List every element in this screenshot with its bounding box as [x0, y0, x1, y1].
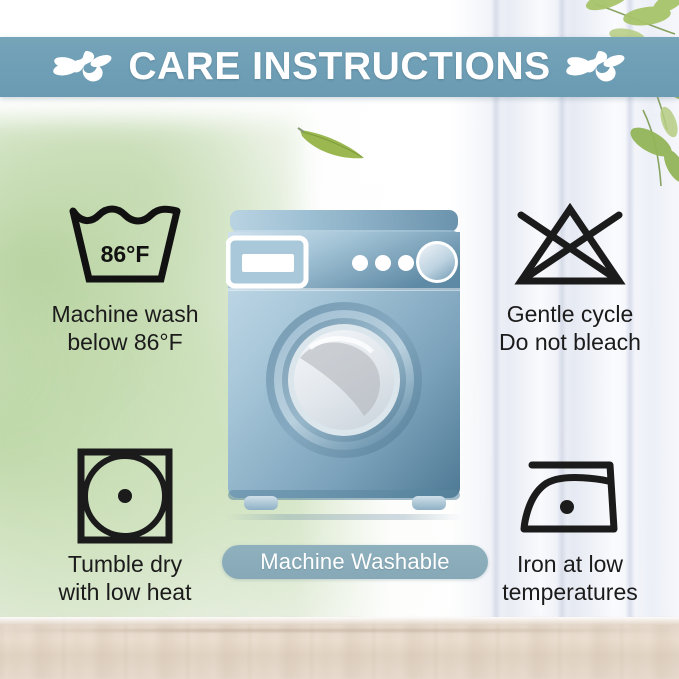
badge-label: Machine Washable: [260, 549, 449, 575]
wash-temperature-value: 86°F: [65, 241, 185, 268]
care-symbol-machine-wash: 86°F Machine wash below 86°F: [18, 196, 232, 356]
care-symbol-label: Machine wash below 86°F: [51, 300, 198, 356]
do-not-bleach-icon-area: [511, 196, 629, 296]
machine-washable-badge: Machine Washable: [222, 545, 488, 579]
iron-icon-area: [510, 446, 630, 546]
tumble-dry-square-icon: [76, 447, 174, 545]
care-symbol-iron: Iron at low temperatures: [470, 446, 670, 606]
header-banner: CARE INSTRUCTIONS: [0, 37, 679, 97]
fleur-de-lis-icon: [52, 47, 114, 87]
care-symbol-label: Iron at low temperatures: [502, 550, 638, 606]
wood-seam-line: [0, 629, 679, 632]
care-symbol-label: Gentle cycle Do not bleach: [499, 300, 641, 356]
care-instructions-poster: CARE INSTRUCTIONS 86°F Machine wash belo…: [0, 0, 679, 679]
plant-leaves-decoration: [535, 0, 679, 200]
care-symbol-do-not-bleach: Gentle cycle Do not bleach: [470, 196, 670, 356]
tumble-dry-icon-area: [76, 446, 174, 546]
floating-leaf-icon: [296, 122, 368, 162]
triangle-crossed-out-icon: [511, 203, 629, 289]
wood-table-surface: [0, 617, 679, 679]
wood-table-edge: [0, 617, 679, 625]
machine-wash-icon-area: 86°F: [65, 196, 185, 296]
care-symbol-label: Tumble dry with low heat: [59, 550, 192, 606]
iron-icon: [510, 451, 630, 541]
care-symbol-tumble-dry: Tumble dry with low heat: [18, 446, 232, 606]
wood-grain-texture: [0, 617, 679, 679]
fleur-de-lis-icon: [565, 47, 627, 87]
washing-machine-illustration: [226, 208, 462, 528]
page-title: CARE INSTRUCTIONS: [128, 45, 550, 89]
